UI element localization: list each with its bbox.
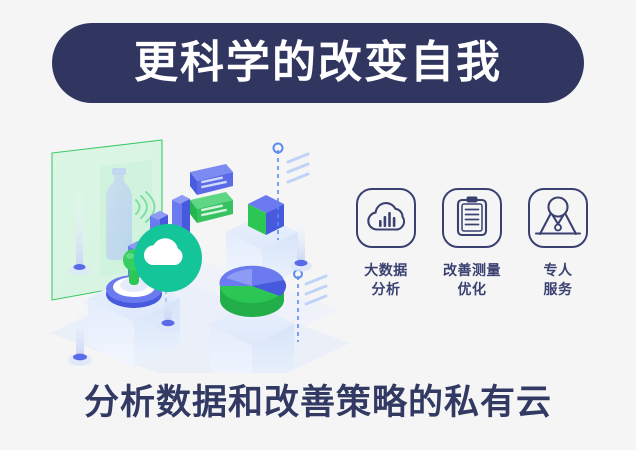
- person-service-icon: [534, 194, 582, 243]
- poster-root: 更科学的改变自我: [0, 0, 636, 450]
- footer-tagline: 分析数据和改善策略的私有云: [0, 385, 636, 420]
- feature-item-measurement[interactable]: 改善测量 优化: [438, 188, 506, 299]
- cloud-bar-chart-icon: [364, 198, 408, 239]
- feature-label-service: 专人 服务: [544, 261, 573, 299]
- clipboard-icon: [455, 195, 489, 242]
- feature-list: 大数据 分析: [352, 188, 592, 328]
- feature-item-big-data[interactable]: 大数据 分析: [352, 188, 420, 299]
- pie-chart-3d: [220, 266, 287, 317]
- feature-icon-box-measurement: [442, 188, 502, 248]
- blue-label-card: [190, 164, 233, 195]
- page-title: 更科学的改变自我: [134, 41, 502, 85]
- illustration-scene: [40, 128, 360, 373]
- diagonal-stripe-marks-top: [288, 154, 308, 182]
- feature-icon-box-big-data: [356, 188, 416, 248]
- feature-label-measurement: 改善测量 优化: [443, 261, 501, 299]
- teal-cloud-badge: [134, 224, 202, 292]
- feature-label-big-data: 大数据 分析: [364, 261, 408, 299]
- feature-icon-box-service: [528, 188, 588, 248]
- green-label-card: [190, 192, 233, 223]
- title-banner: 更科学的改变自我: [52, 23, 584, 103]
- feature-item-service[interactable]: 专人 服务: [524, 188, 592, 299]
